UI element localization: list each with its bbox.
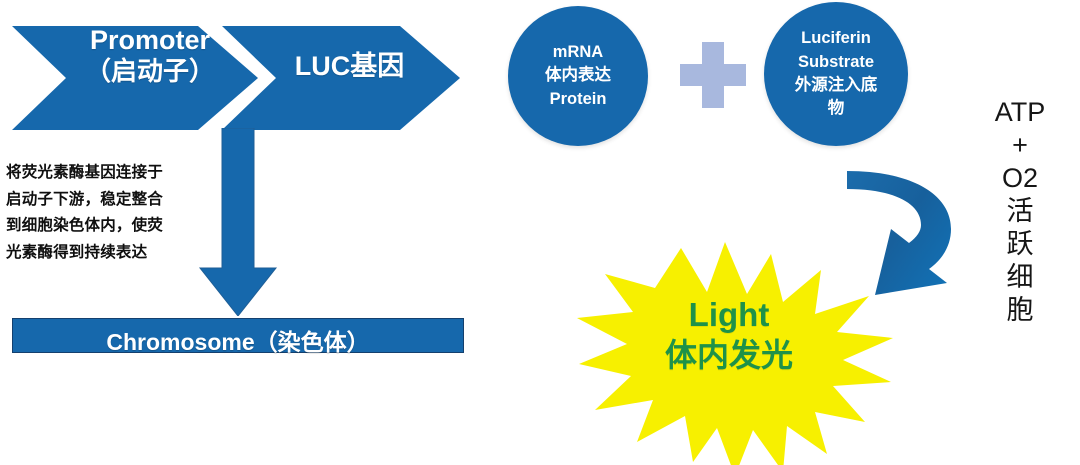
chromosome-bar: Chromosome（染色体） <box>12 318 464 353</box>
promoter-label: Promoter （启动子） <box>55 26 245 85</box>
bubble-mrna-protein: mRNA 体内表达 Protein <box>508 6 648 146</box>
integration-note: 将荧光素酶基因连接于 启动子下游，稳定整合 到细胞染色体内，使荧 光素酶得到持续… <box>6 160 216 267</box>
integration-note-line-2: 启动子下游，稳定整合 <box>6 187 216 214</box>
bubble-luciferin-substrate: Luciferin Substrate 外源注入底 物 <box>764 2 908 146</box>
bubble-luciferin-line-2: Substrate <box>798 51 874 74</box>
cofactor-line-5: 跃 <box>985 228 1055 261</box>
cofactor-line-1: ATP <box>985 96 1055 129</box>
cofactor-line-4: 活 <box>985 195 1055 228</box>
bubble-mrna-line-2: 体内表达 <box>545 64 611 87</box>
integration-note-line-1: 将荧光素酶基因连接于 <box>6 160 216 187</box>
bubble-luciferin-line-4: 物 <box>828 97 845 120</box>
cofactor-line-7: 胞 <box>985 294 1055 327</box>
cofactor-text-column: ATP + O2 活 跃 细 胞 <box>985 96 1055 327</box>
cofactor-line-3: O2 <box>985 162 1055 195</box>
promoter-label-cn: （启动子） <box>55 57 245 85</box>
promoter-label-en: Promoter <box>90 25 210 55</box>
bubble-luciferin-line-1: Luciferin <box>801 27 871 50</box>
light-output-label-en: Light <box>604 296 854 334</box>
luc-gene-label: LUC基因 <box>262 52 437 81</box>
light-output-label: Light 体内发光 <box>604 296 854 374</box>
cofactor-line-6: 细 <box>985 261 1055 294</box>
chromosome-label: Chromosome（染色体） <box>13 323 463 357</box>
plus-icon-bar-vertical <box>702 42 724 108</box>
plus-icon <box>680 42 746 108</box>
bubble-mrna-line-1: mRNA <box>553 41 603 64</box>
integration-note-line-3: 到细胞染色体内，使荧 <box>6 213 216 240</box>
down-arrow-icon <box>196 128 280 316</box>
bubble-mrna-line-3: Protein <box>550 88 607 111</box>
bubble-luciferin-line-3: 外源注入底 <box>795 74 878 97</box>
cofactor-line-2: + <box>985 129 1055 162</box>
diagram-canvas: Promoter （启动子） LUC基因 将荧光素酶基因连接于 启动子下游，稳定… <box>0 0 1080 465</box>
integration-note-line-4: 光素酶得到持续表达 <box>6 240 216 267</box>
light-output-label-cn: 体内发光 <box>604 337 854 374</box>
